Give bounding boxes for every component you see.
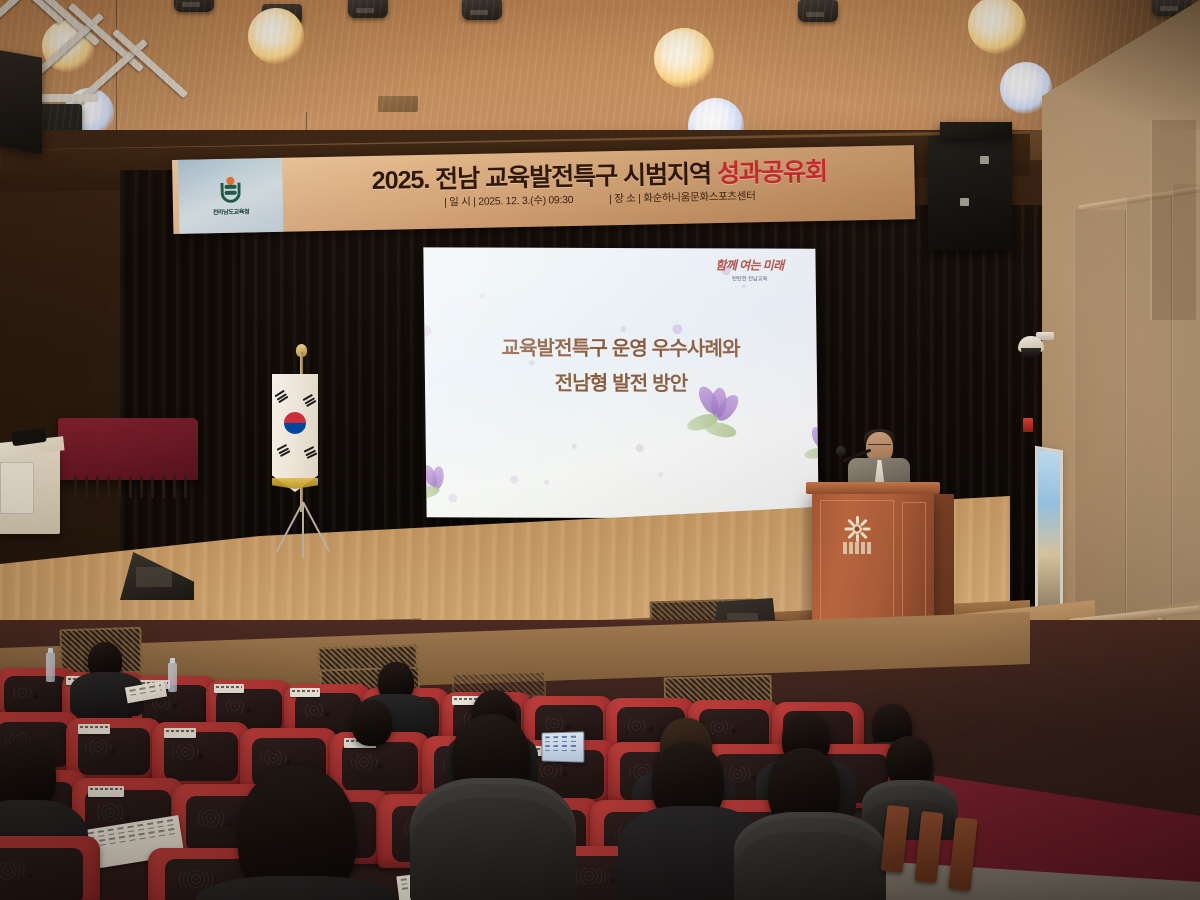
side-lectern — [0, 448, 60, 534]
water-bottle — [168, 662, 177, 692]
stage-spotlight — [968, 0, 1026, 54]
projection-screen: 함께 여는 미래 탄탄한 전남교육 교육발전특구 운영 우수사례와 전남형 발전… — [423, 247, 818, 518]
trigram-gam — [302, 394, 316, 407]
logo-caption: 전라남도교육청 — [213, 206, 250, 216]
water-bottle — [46, 652, 55, 682]
auditorium-photo: 전라남도교육청 2025. 전남 교육발전특구 시범지역 성과공유회 | 일 시… — [0, 0, 1200, 900]
banner-title-highlight: 성과공유회 — [717, 158, 828, 188]
hanging-wire — [116, 0, 117, 140]
attendee-laptop[interactable] — [542, 731, 585, 762]
trigram-geon — [274, 390, 288, 403]
covered-piano — [58, 418, 198, 480]
speaker-podium — [812, 488, 934, 636]
trigram-gon — [277, 444, 291, 457]
seat-number-tag — [214, 684, 244, 693]
banner-date-label: | 일 시 | — [444, 196, 476, 209]
banner-place-label: | 장 소 | — [609, 193, 641, 206]
stage-spotlight — [42, 20, 94, 72]
banner-place-value: 화순하니움문화스포츠센터 — [643, 190, 756, 204]
stage-light-can — [174, 0, 214, 12]
flag-stand — [268, 502, 338, 558]
banner-place: | 장 소 | 화순하니움문화스포츠센터 — [609, 188, 756, 206]
camera-lens — [1021, 348, 1041, 359]
seat-number-tag — [88, 786, 124, 797]
slogan-sub: 탄탄한 전남교육 — [696, 274, 804, 282]
stage-spotlight — [654, 28, 714, 88]
wall-recess — [1150, 120, 1196, 320]
slide-slogan: 함께 여는 미래 탄탄한 전남교육 — [695, 256, 803, 282]
logo-mark-icon — [218, 176, 243, 204]
auditorium-seat — [0, 836, 100, 900]
slide-title-line1: 교육발전특구 운영 우수사례와 — [424, 331, 816, 367]
event-banner: 전라남도교육청 2025. 전남 교육발전특구 시범지역 성과공유회 | 일 시… — [172, 145, 915, 234]
attendee-winter-coat — [734, 812, 886, 900]
line-array-speaker — [0, 50, 42, 153]
sunflower-emblem-icon — [846, 518, 868, 540]
piano-legs — [66, 476, 194, 498]
stage-light-can — [798, 0, 838, 22]
wall-panel — [1074, 210, 1126, 640]
microphone-head — [836, 446, 846, 456]
fire-extinguisher-sign — [1023, 418, 1033, 432]
seat-number-tag — [164, 728, 196, 738]
projected-slide: 함께 여는 미래 탄탄한 전남교육 교육발전특구 운영 우수사례와 전남형 발전… — [423, 247, 818, 518]
stage-light-can — [262, 4, 302, 26]
decorative-flower-icon — [804, 427, 819, 463]
dome-camera — [1018, 330, 1054, 364]
podium-emblem-text — [843, 542, 871, 554]
attendee-head — [352, 700, 392, 746]
slide-title-line2: 전남형 발전 방안 — [425, 366, 817, 402]
attendee-winter-coat — [410, 778, 576, 900]
seat-number-tag — [290, 688, 320, 697]
glasses-icon — [868, 444, 891, 449]
taeguk-symbol — [284, 412, 306, 434]
trigram-ri — [304, 446, 318, 459]
line-array-speaker — [928, 136, 1012, 250]
podium-top-surface — [806, 482, 940, 494]
stage-spotlight — [248, 8, 304, 64]
stage-light-can — [462, 0, 502, 20]
podium-emblem — [840, 518, 874, 562]
banner-date: | 일 시 | 2025. 12. 3.(수) 09:30 — [444, 192, 573, 210]
flag-fringe — [272, 478, 318, 490]
seat-number-tag — [78, 724, 110, 734]
banner-date-value: 2025. 12. 3.(수) 09:30 — [478, 194, 573, 208]
education-office-logo: 전라남도교육청 — [178, 158, 283, 234]
stage-light-can — [348, 0, 388, 18]
slide-title: 교육발전특구 운영 우수사례와 전남형 발전 방안 — [424, 331, 817, 402]
slogan-main: 함께 여는 미래 — [695, 256, 803, 273]
korean-national-flag — [258, 352, 354, 562]
speaker-mount-bracket — [940, 122, 1012, 138]
decorative-flower-icon — [423, 464, 453, 502]
ceiling-vent — [378, 96, 418, 112]
decorative-flower-icon — [684, 385, 740, 435]
taegukgi — [272, 374, 318, 492]
